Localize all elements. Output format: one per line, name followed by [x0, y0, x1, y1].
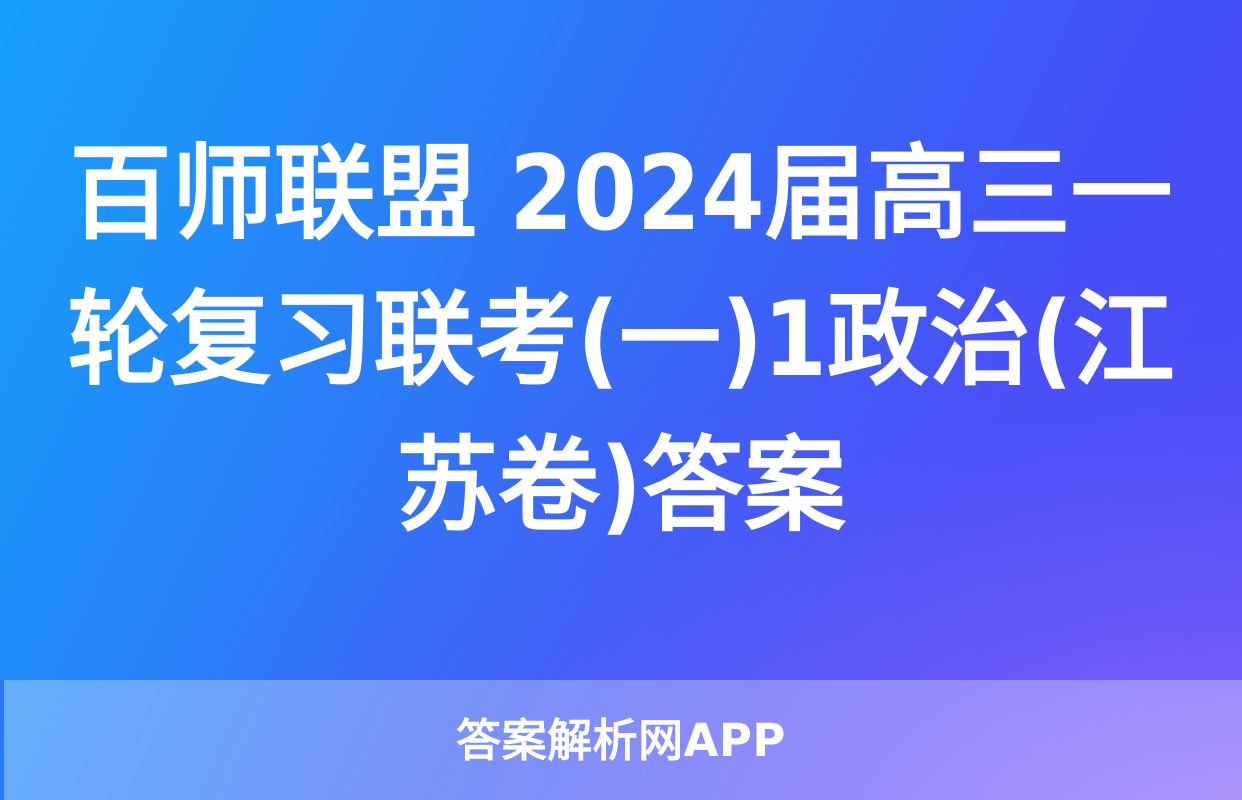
title-line-2: 轮复习联考(一)1政治(江	[46, 267, 1196, 413]
band-left-stripe	[0, 680, 4, 800]
watermark-band: 答案解析网APP	[0, 680, 1242, 800]
title-line-3: 苏卷)答案	[46, 413, 1196, 559]
answer-cover-banner: 百师联盟 2024届高三一 轮复习联考(一)1政治(江 苏卷)答案 答案解析网A…	[0, 0, 1242, 800]
title-block: 百师联盟 2024届高三一 轮复习联考(一)1政治(江 苏卷)答案	[0, 0, 1242, 680]
watermark-label: 答案解析网APP	[456, 718, 786, 763]
title-line-1: 百师联盟 2024届高三一	[46, 121, 1196, 267]
